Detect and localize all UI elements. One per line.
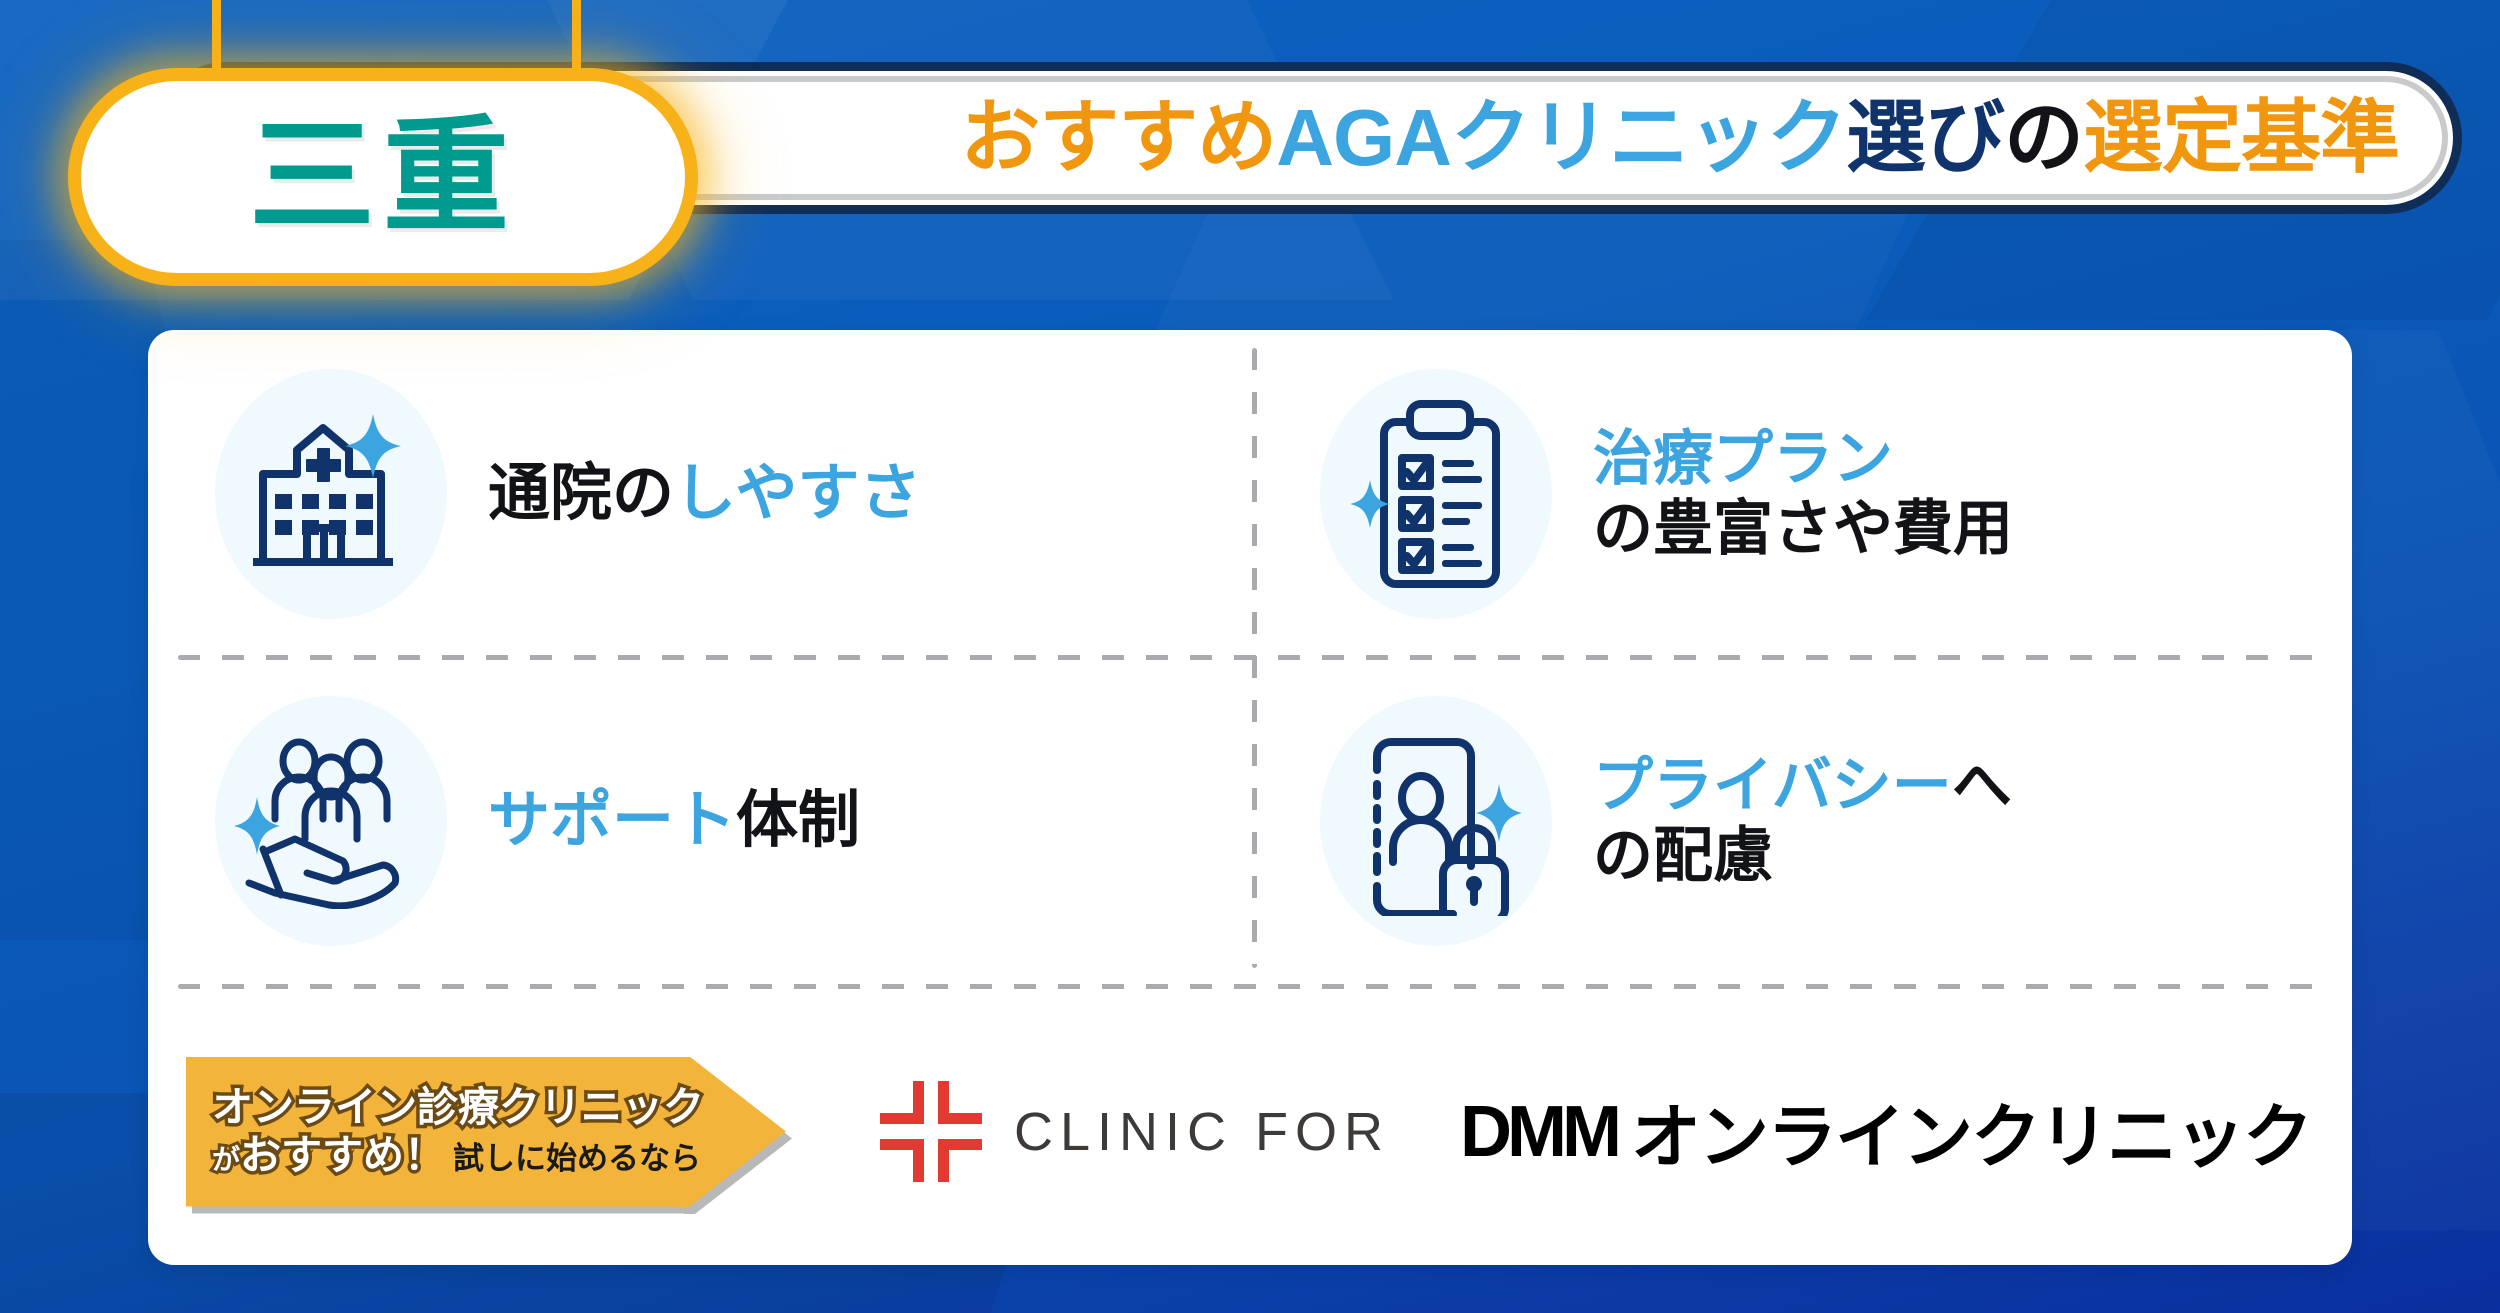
clipboard-checklist-icon (1301, 359, 1571, 629)
badge-hanger-left (212, 0, 221, 70)
banner-line-2-prefix: が (212, 1145, 240, 1174)
banner-line-2-main: おすすめ！ (240, 1134, 445, 1177)
support-people-hand-icon-glyph (233, 733, 429, 909)
d-mosaic-icon-glyph (2351, 1092, 2352, 1166)
criteria-label-3-blue: サポート (488, 786, 736, 855)
criteria-label-1-blue: しやすさ (674, 459, 921, 528)
banner-line-2: がおすすめ！試しに始めるなら (212, 1134, 672, 1177)
logo-dmm-online-clinic[interactable]: DMM オンラインクリニック (1460, 1081, 2311, 1182)
criteria-label-4-black: の配慮 (1593, 822, 1773, 889)
criteria-label-4-tail: へ (1952, 752, 2012, 819)
dmm-label: オンラインクリニック (1631, 1081, 2311, 1182)
criteria-label-2-blue: 治療プラン (1593, 425, 1893, 492)
title-part-4: の (2004, 98, 2083, 178)
criteria-label-1-black: 通院の (488, 459, 674, 528)
support-people-hand-icon (196, 686, 466, 956)
clipboard-checklist-icon-glyph (1348, 396, 1524, 592)
criteria-grid: 通院のしやすさ (148, 330, 2352, 985)
privacy-lock-icon (1301, 686, 1571, 956)
criteria-item-2: 治療プラン の豊富さや費用 (1253, 330, 2352, 657)
title-part-2: AGAクリニック (1276, 98, 1846, 178)
criteria-label-2-black: の豊富さや費用 (1593, 495, 2013, 562)
sparkle-icon (345, 414, 401, 478)
criteria-item-4: プライバシーへ の配慮 (1253, 657, 2352, 985)
d-mosaic-icon (2351, 1092, 2352, 1171)
title-part-5: 選定基準 (2083, 98, 2399, 178)
badge-hanger-right (572, 0, 581, 70)
criteria-card: 通院のしやすさ (148, 330, 2352, 1265)
title-part-3: 選び (1846, 98, 2004, 178)
criteria-label-4-blue: プライバシー (1593, 752, 1952, 819)
prefecture-badge: 三重 (68, 68, 698, 286)
criteria-label-3-black: 体制 (736, 786, 860, 855)
dmm-brand: DMM (1460, 1091, 1617, 1173)
recommendation-banner: オンライン診療クリニック がおすすめ！試しに始めるなら (186, 1057, 786, 1207)
privacy-lock-icon-glyph (1343, 726, 1529, 916)
title-part-1: おすすめ (960, 98, 1276, 178)
banner-line-2-tail: 試しに始めるなら (453, 1143, 701, 1176)
logo-clinic-for[interactable]: CLINIC FOR (876, 1077, 1390, 1187)
clinic-for-label: CLINIC FOR (1014, 1101, 1390, 1163)
header: おすすめAGAクリニック選びの選定基準 三重 (0, 38, 2500, 238)
footer-row: オンライン診療クリニック がおすすめ！試しに始めるなら (148, 998, 2352, 1265)
criteria-label-1: 通院のしやすさ (488, 458, 921, 530)
hospital-icon (196, 359, 466, 629)
divider-horizontal-middle (178, 655, 2322, 660)
banner-line-1: オンライン診療クリニック (212, 1086, 672, 1129)
prefecture-badge-label: 三重 (249, 114, 517, 240)
page-title: おすすめAGAクリニック選びの選定基準 (960, 98, 2399, 178)
clinic-for-cross-icon (876, 1077, 986, 1187)
banner-text: オンライン診療クリニック がおすすめ！試しに始めるなら (212, 1071, 672, 1193)
criteria-item-1: 通院のしやすさ (148, 330, 1253, 657)
criteria-label-4: プライバシーへ の配慮 (1593, 751, 2012, 890)
criteria-item-3: サポート体制 (148, 657, 1253, 985)
criteria-label-2: 治療プラン の豊富さや費用 (1593, 424, 2013, 563)
criteria-label-3: サポート体制 (488, 785, 860, 857)
hospital-icon-glyph (241, 410, 421, 578)
divider-horizontal-footer (178, 984, 2322, 989)
